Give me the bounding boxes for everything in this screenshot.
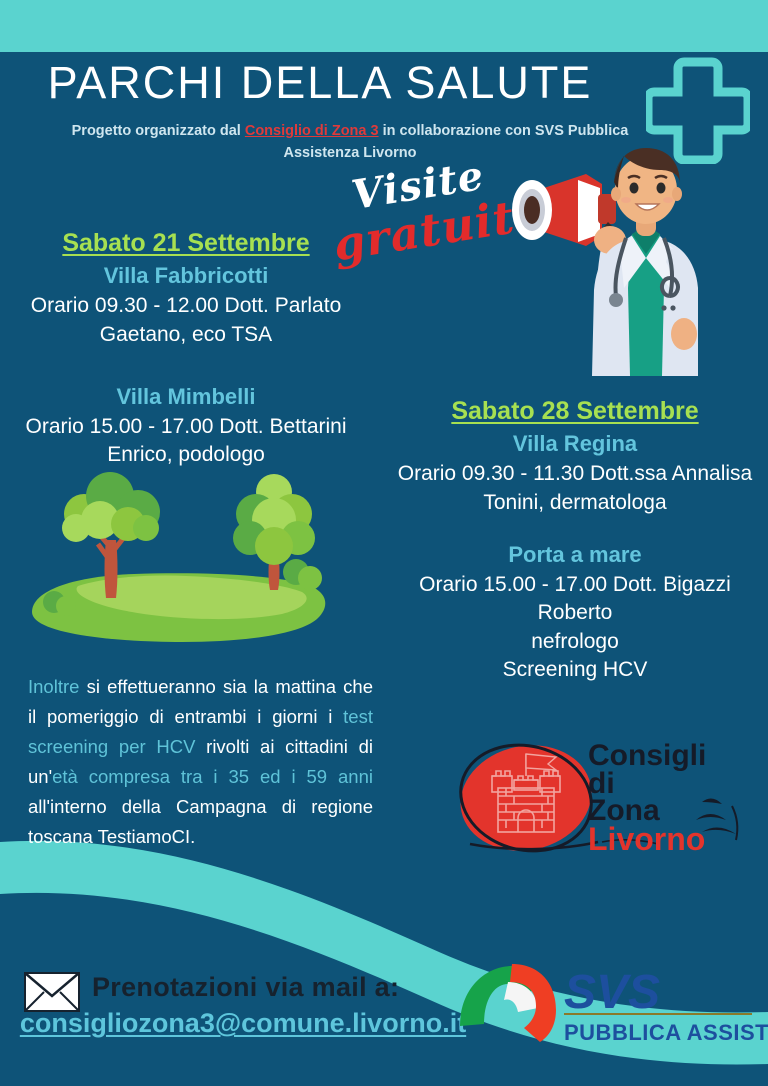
event-detail-line2: Tonini, dermatologa <box>382 489 768 517</box>
event-detail-line2: Enrico, podologo <box>0 441 372 469</box>
event-detail-line1: Orario 09.30 - 12.00 Dott. Parlato <box>0 292 372 320</box>
paragraph-seg-6: all'interno della Campagna di regione to… <box>28 796 373 847</box>
svs-tagline: PUBBLICA ASSISTENZA <box>564 1020 768 1045</box>
paragraph-seg-5: età compresa tra i 35 ed i 59 anni <box>52 766 373 787</box>
event-detail-line1: Orario 09.30 - 11.30 Dott.ssa Annalisa <box>382 460 768 488</box>
event-block-2: Villa Mimbelli Orario 15.00 - 17.00 Dott… <box>0 380 372 470</box>
consigli-line-1: Consigli <box>588 742 768 770</box>
svs-pubblica-assistenza-logo: SVS PUBBLICA ASSISTENZA <box>452 952 768 1052</box>
event-detail-line3: Screening HCV <box>382 656 768 684</box>
consigli-line-2: di <box>588 770 768 798</box>
page-title: PARCHI DELLA SALUTE <box>0 58 640 108</box>
doctor-with-megaphone-illustration <box>474 138 764 388</box>
paragraph-seg-1: Inoltre <box>28 676 79 697</box>
event-day-heading: Sabato 28 Settembre <box>382 396 768 427</box>
top-teal-band <box>0 0 768 52</box>
subtitle-part1: Progetto organizzato dal <box>72 123 245 139</box>
park-with-trees-illustration <box>6 462 336 662</box>
booking-label: Prenotazioni via mail a: <box>92 972 399 1003</box>
event-day-heading: Sabato 21 Settembre <box>0 228 372 259</box>
poster-canvas: PARCHI DELLA SALUTE Progetto organizzato… <box>0 0 768 1086</box>
event-venue: Villa Regina <box>382 427 768 460</box>
envelope-icon <box>24 972 80 1012</box>
event-detail-line2: Gaetano, eco TSA <box>0 321 372 349</box>
italian-tricolor-arc <box>460 964 556 1042</box>
email-link[interactable]: consigliozona3@comune.livorno.it <box>18 1008 468 1039</box>
event-detail-line1: Orario 15.00 - 17.00 Dott. Bettarini <box>0 413 372 441</box>
subtitle-highlight-link[interactable]: Consiglio di Zona 3 <box>245 123 379 139</box>
screening-paragraph: Inoltre si effettueranno sia la mattina … <box>28 672 373 852</box>
event-venue: Porta a mare <box>382 538 768 571</box>
event-venue: Villa Mimbelli <box>0 380 372 413</box>
event-detail-line1: Orario 15.00 - 17.00 Dott. Bigazzi Rober… <box>382 571 768 628</box>
paragraph-seg-2: si effettueranno sia la mattina che il p… <box>28 676 373 727</box>
consigli-line-4: Livorno <box>588 825 768 854</box>
event-block-3: Sabato 28 Settembre Villa Regina Orario … <box>382 396 768 517</box>
event-venue: Villa Fabbricotti <box>0 259 372 292</box>
consigli-logo-text: Consigli di Zona Livorno <box>588 742 768 854</box>
svs-wordmark: SVS <box>564 966 660 1019</box>
event-detail-line2: nefrologo <box>382 628 768 656</box>
event-block-4: Porta a mare Orario 15.00 - 17.00 Dott. … <box>382 538 768 684</box>
event-block-1: Sabato 21 Settembre Villa Fabbricotti Or… <box>0 228 372 349</box>
